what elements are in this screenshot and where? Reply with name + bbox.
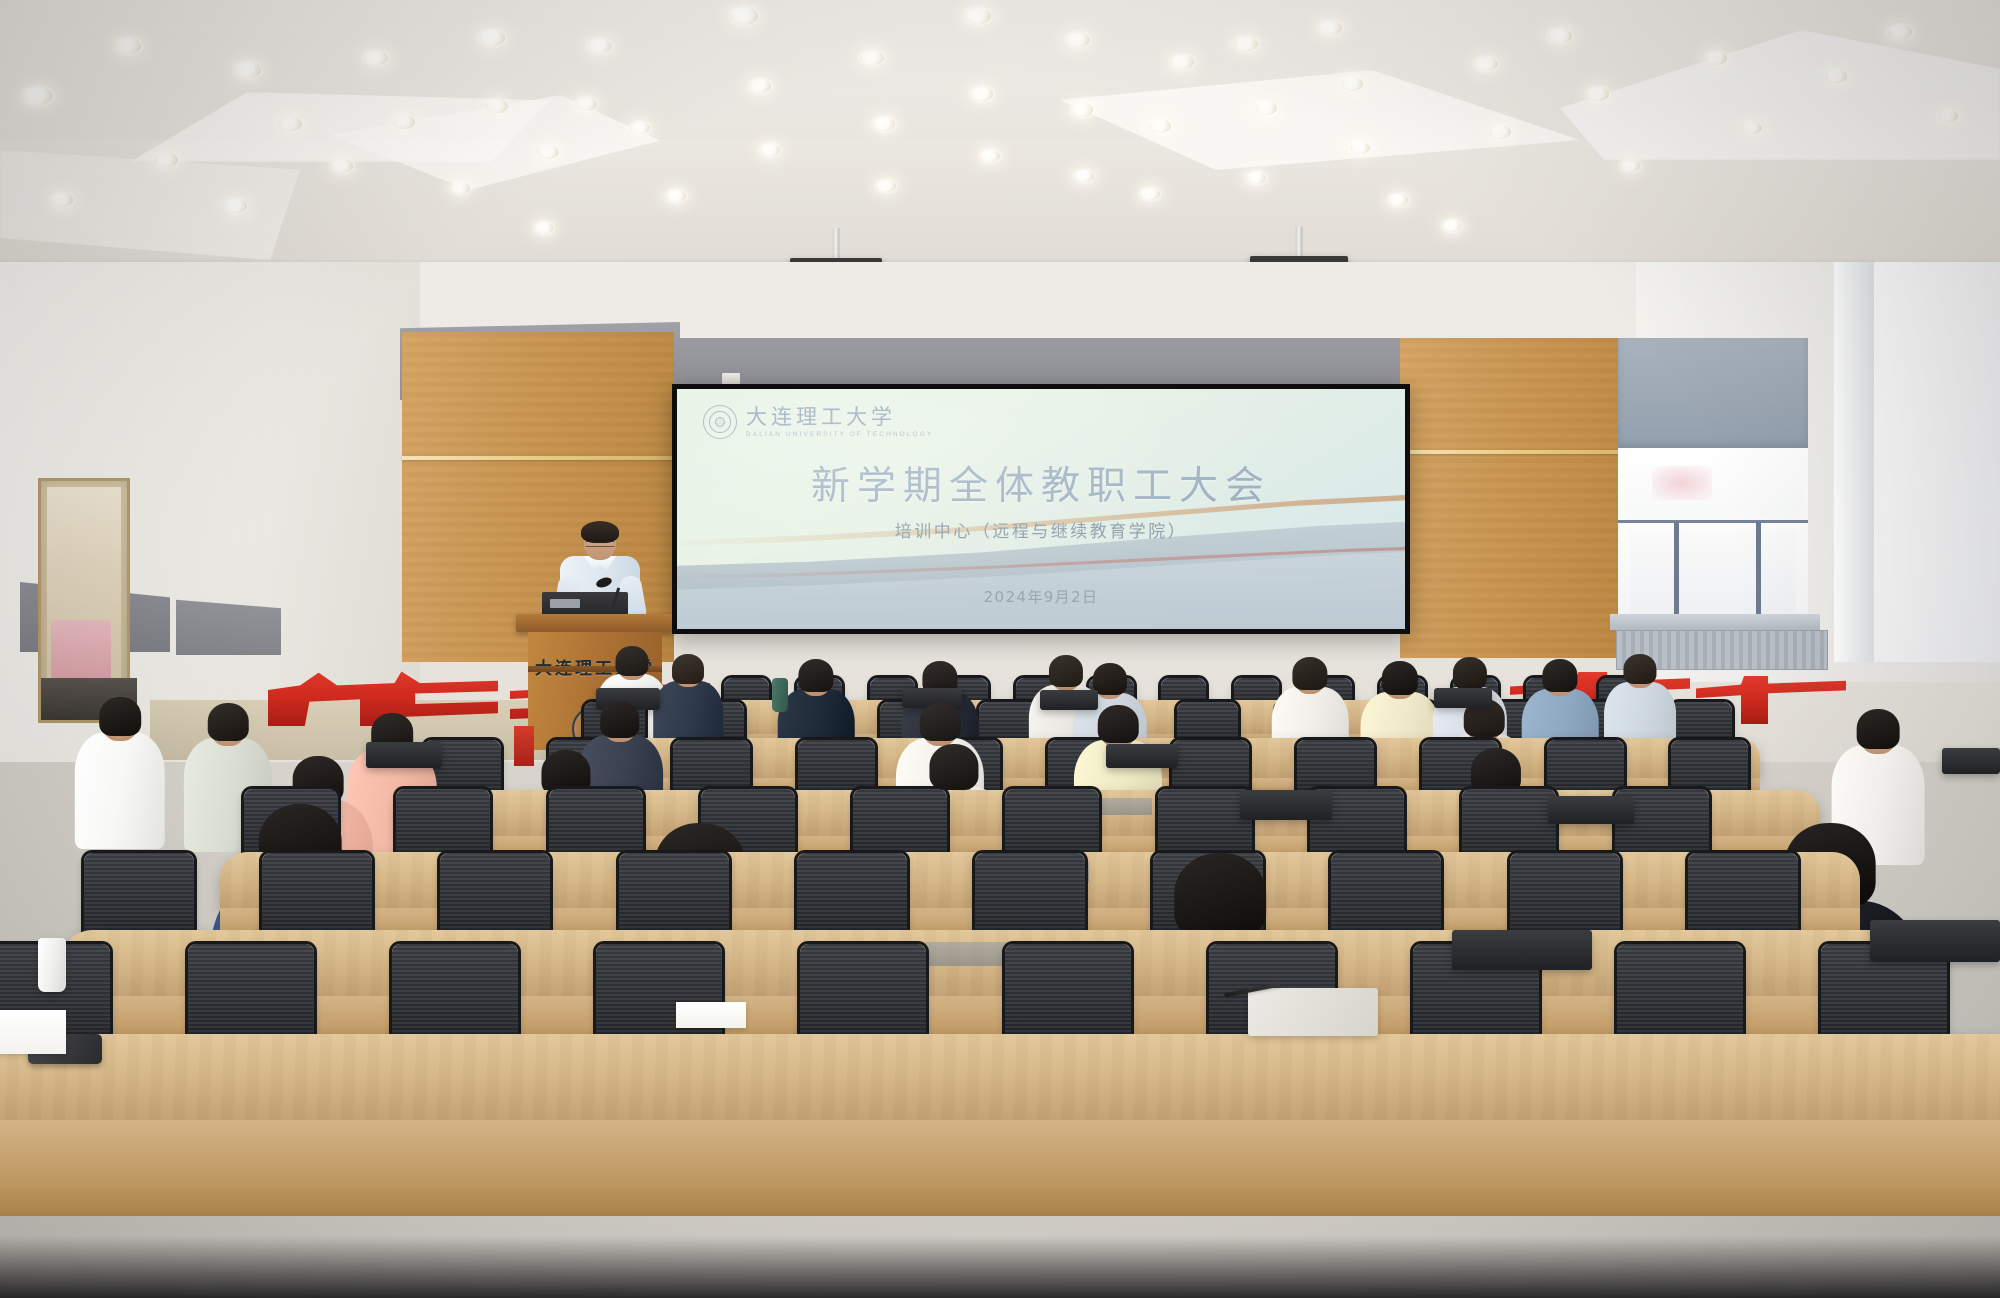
person-torso bbox=[75, 732, 165, 849]
person-hair bbox=[1382, 661, 1418, 695]
window-mullion bbox=[1756, 522, 1761, 622]
chair[interactable] bbox=[800, 944, 926, 1044]
ceiling-downlight bbox=[235, 62, 261, 78]
presentation-slide: 大连理工大学 DALIAN UNIVERSITY OF TECHNOLOGY 新… bbox=[677, 389, 1405, 629]
attendee-row2-a bbox=[75, 700, 165, 858]
wood-wall-panel-right bbox=[1400, 338, 1640, 658]
ceiling-downlight bbox=[393, 115, 415, 129]
person-hair bbox=[1542, 659, 1577, 692]
person-hair bbox=[920, 703, 961, 741]
person-hair bbox=[1174, 853, 1266, 939]
row-6-near-front bbox=[0, 1120, 2000, 1216]
person-hair bbox=[1623, 654, 1656, 685]
row-6-near bbox=[0, 1034, 2000, 1120]
chair-frame bbox=[797, 941, 929, 1047]
university-seal-icon bbox=[703, 405, 737, 439]
ceiling-downlight bbox=[1489, 125, 1511, 139]
ceiling-downlight bbox=[23, 87, 53, 106]
person-hair bbox=[672, 654, 704, 684]
logo-chinese-name: 大连理工大学 bbox=[746, 406, 933, 428]
ceiling-downlight bbox=[1705, 51, 1727, 65]
ceiling-downlight bbox=[1140, 188, 1160, 200]
slide-subtitle: 培训中心（远程与继续教育学院） bbox=[677, 517, 1405, 542]
ceiling-downlight bbox=[1149, 119, 1171, 133]
wall-socket bbox=[722, 373, 740, 384]
chair-frame bbox=[185, 941, 317, 1047]
window-sill bbox=[1610, 614, 1820, 630]
ceiling-downlight bbox=[450, 182, 470, 194]
ceiling-downlight bbox=[1246, 172, 1266, 184]
ceiling-downlight bbox=[537, 145, 559, 159]
ceiling-downlight bbox=[115, 38, 141, 54]
far-right-wall bbox=[1874, 262, 2000, 662]
chair[interactable] bbox=[1331, 853, 1441, 940]
laptop bbox=[1548, 796, 1634, 824]
person-hair bbox=[600, 701, 639, 738]
paper-sheet bbox=[676, 1002, 746, 1028]
ceiling-downlight bbox=[971, 87, 993, 101]
ceiling-downlight bbox=[1620, 160, 1640, 172]
ceiling-downlight bbox=[666, 190, 686, 202]
doorway-object bbox=[51, 620, 111, 680]
laptop bbox=[366, 742, 442, 768]
ceiling-downlight bbox=[486, 99, 508, 113]
ceiling-downlight bbox=[980, 150, 1000, 162]
laptop bbox=[1106, 744, 1178, 768]
person-hair bbox=[798, 659, 833, 692]
speaker-glasses bbox=[585, 541, 615, 547]
projection-screen: 大连理工大学 DALIAN UNIVERSITY OF TECHNOLOGY 新… bbox=[672, 384, 1410, 634]
person-hair bbox=[1453, 657, 1487, 689]
ceiling-downlight bbox=[479, 30, 505, 46]
logo-english-name: DALIAN UNIVERSITY OF TECHNOLOGY bbox=[746, 431, 933, 438]
projector-mount bbox=[1296, 226, 1303, 260]
person-hair bbox=[615, 646, 648, 677]
ceiling-downlight bbox=[876, 180, 896, 192]
chair[interactable] bbox=[392, 944, 518, 1044]
ceiling-downlight bbox=[730, 7, 758, 24]
ceiling-downlight bbox=[1074, 170, 1094, 182]
foreground-shadow bbox=[0, 1236, 2000, 1298]
wood-seam bbox=[1400, 450, 1640, 454]
chair[interactable] bbox=[797, 853, 907, 940]
laptop bbox=[1452, 930, 1592, 970]
ceiling-downlight bbox=[965, 8, 991, 24]
ceiling-downlight bbox=[1255, 101, 1277, 115]
ceiling-downlight bbox=[331, 159, 353, 173]
laptop bbox=[1942, 748, 2000, 774]
window-mullion bbox=[1674, 522, 1679, 622]
water-bottle bbox=[772, 678, 788, 712]
laptop bbox=[1434, 688, 1492, 708]
window-exterior-view bbox=[1630, 530, 1796, 614]
laptop bbox=[1870, 920, 2000, 962]
side-doorway[interactable] bbox=[38, 478, 130, 723]
laptop bbox=[1040, 690, 1098, 710]
slide-title: 新学期全体教职工大会 bbox=[677, 455, 1405, 511]
ceiling-downlight bbox=[1341, 77, 1363, 91]
ceiling-downlight bbox=[760, 144, 780, 156]
ceiling-downlight bbox=[1825, 69, 1847, 83]
ceiling-downlight bbox=[575, 97, 597, 111]
wall-recess-panel bbox=[176, 595, 281, 655]
slide-university-logo: 大连理工大学 DALIAN UNIVERSITY OF TECHNOLOGY bbox=[703, 405, 933, 439]
ceiling-downlight bbox=[1443, 220, 1461, 231]
ceiling-downlight bbox=[630, 122, 650, 134]
person-hair bbox=[99, 697, 141, 736]
wall-pillar bbox=[1834, 262, 1874, 662]
chair[interactable] bbox=[262, 853, 372, 940]
chair[interactable] bbox=[1510, 853, 1620, 940]
person-hair bbox=[208, 703, 249, 741]
wood-seam bbox=[402, 456, 674, 460]
lectern-top bbox=[516, 614, 672, 632]
projector-mount bbox=[833, 228, 840, 262]
ceiling-downlight bbox=[1071, 103, 1093, 117]
chair[interactable] bbox=[188, 944, 314, 1044]
chair-frame bbox=[389, 941, 521, 1047]
person-hair bbox=[1098, 705, 1139, 743]
paper-sheet bbox=[0, 1010, 66, 1054]
ceiling-downlight bbox=[1587, 87, 1609, 101]
person-hair bbox=[1093, 663, 1127, 695]
lecture-hall-photo: 大连理工大学 DALIAN UNIVERSITY OF TECHNOLOGY 新… bbox=[0, 0, 2000, 1298]
slide-date: 2024年9月2日 bbox=[677, 586, 1405, 607]
chair[interactable] bbox=[1617, 944, 1743, 1044]
ceiling-downlight bbox=[1742, 122, 1762, 134]
chair[interactable] bbox=[596, 944, 722, 1044]
chair[interactable] bbox=[975, 853, 1085, 940]
speaker-hair bbox=[581, 521, 619, 543]
ceiling-downlight bbox=[51, 193, 73, 207]
window-glass-upper bbox=[1618, 448, 1808, 522]
laptop bbox=[1240, 790, 1332, 820]
chair-frame bbox=[1002, 941, 1134, 1047]
ceiling-facet bbox=[0, 150, 300, 260]
ceiling-downlight bbox=[535, 222, 553, 233]
ceiling-downlight bbox=[1938, 110, 1958, 122]
water-cup bbox=[38, 938, 66, 992]
chair-frame bbox=[1614, 941, 1746, 1047]
chair[interactable] bbox=[1005, 944, 1131, 1044]
window-reflection bbox=[1652, 466, 1712, 500]
chair[interactable] bbox=[84, 853, 194, 940]
person-hair bbox=[1292, 657, 1327, 690]
ceiling-downlight bbox=[873, 117, 895, 131]
chair-frame bbox=[593, 941, 725, 1047]
ceiling-downlight bbox=[1388, 194, 1408, 206]
ceiling-downlight bbox=[749, 79, 771, 93]
notebook bbox=[1248, 988, 1378, 1036]
ceiling-downlight bbox=[225, 199, 247, 213]
chair[interactable] bbox=[619, 853, 729, 940]
person-hair bbox=[929, 744, 978, 790]
person-hair bbox=[1857, 709, 1900, 749]
chair[interactable] bbox=[440, 853, 550, 940]
ceiling-downlight bbox=[1350, 142, 1370, 154]
window-shade[interactable] bbox=[1618, 338, 1808, 448]
chair[interactable] bbox=[1688, 853, 1798, 940]
